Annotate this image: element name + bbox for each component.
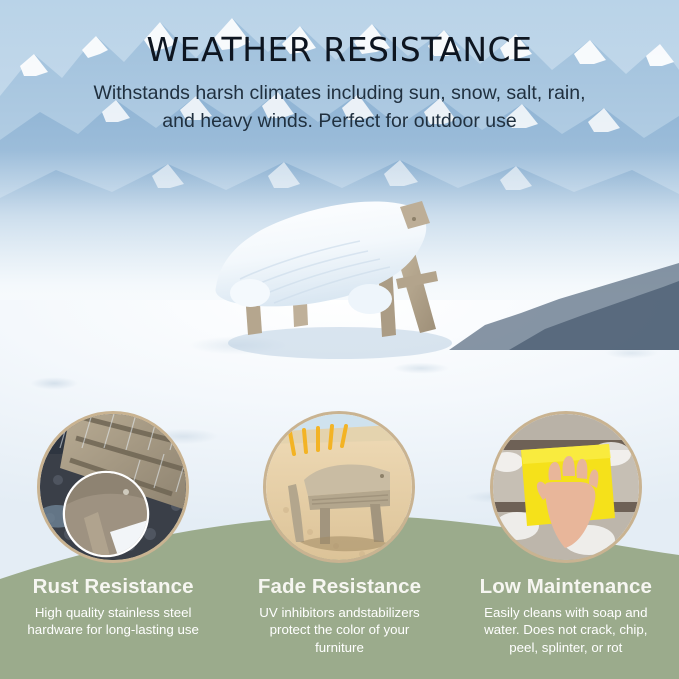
fade-resistance-thumbnail[interactable] xyxy=(263,411,415,563)
feature-low-maintenance: Low Maintenance Easily cleans with soap … xyxy=(453,411,679,661)
page-subtitle: Withstands harsh climates including sun,… xyxy=(78,80,601,135)
feature-list: Rust Resistance High quality stainless s… xyxy=(0,411,679,661)
page-title: WEATHER RESISTANCE xyxy=(0,30,679,69)
rust-resistance-thumbnail[interactable] xyxy=(37,411,189,563)
snow-covered-chair-image xyxy=(200,183,475,363)
feature-description: Easily cleans with soap and water. Does … xyxy=(478,604,653,657)
feature-fade-resistance: Fade Resistance UV inhibitors andstabili… xyxy=(226,411,452,661)
feature-title: Low Maintenance xyxy=(480,576,652,599)
low-maintenance-thumbnail[interactable] xyxy=(490,411,642,563)
feature-rust-resistance: Rust Resistance High quality stainless s… xyxy=(0,411,226,661)
feature-title: Rust Resistance xyxy=(33,576,194,599)
product-feature-poster: WEATHER RESISTANCE Withstands harsh clim… xyxy=(0,0,679,679)
treeline xyxy=(449,255,679,350)
feature-description: High quality stainless steel hardware fo… xyxy=(26,604,201,639)
feature-title: Fade Resistance xyxy=(258,576,421,599)
feature-description: UV inhibitors andstabilizers protect the… xyxy=(252,604,427,657)
